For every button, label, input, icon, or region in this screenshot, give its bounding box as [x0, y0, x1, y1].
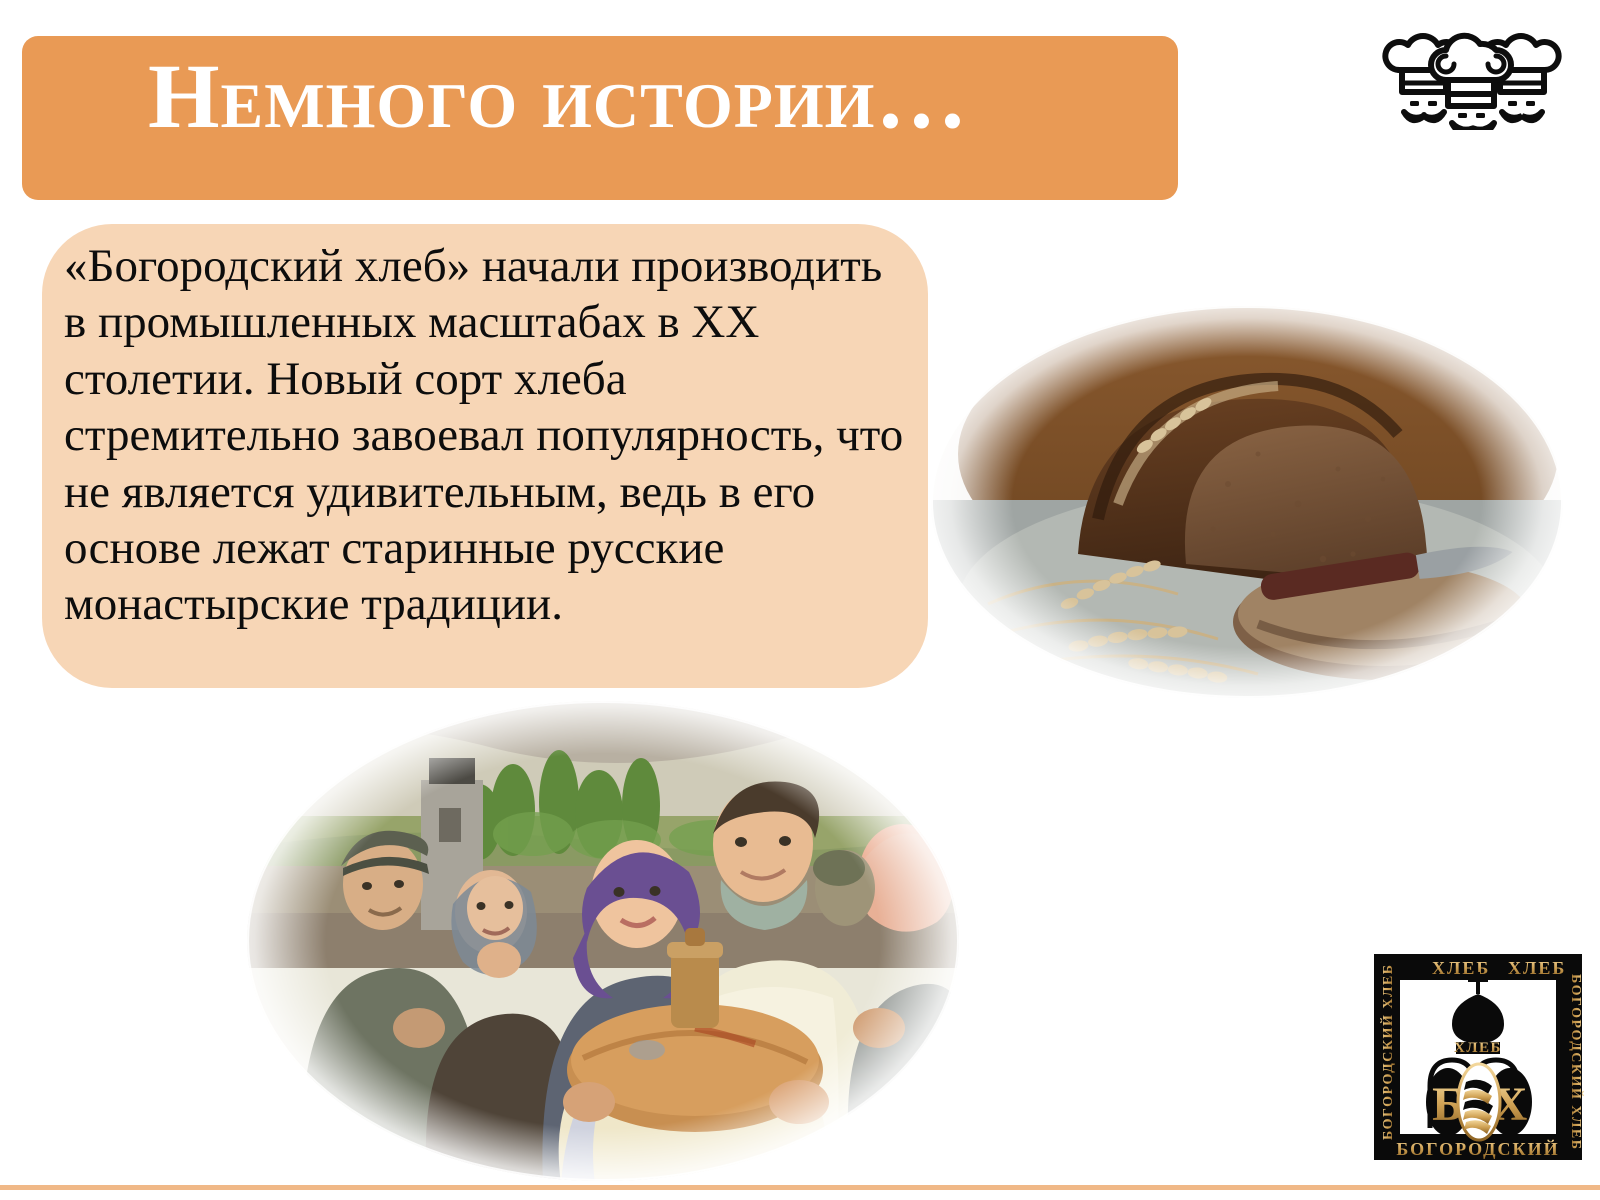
bogorodsky-hleb-logo: ХЛЕБ ХЛЕБ БОГОРОДСКИЙ БОГОРОДСКИЙ ХЛЕБ Б…: [1372, 952, 1584, 1162]
slide-root: Немного истории…: [0, 0, 1600, 1200]
logo-text-left: БОГОРОДСКИЙ ХЛЕБ: [1379, 964, 1396, 1140]
logo-text-top-right: ХЛЕБ: [1508, 958, 1566, 978]
painting-bread-and-salt: [243, 698, 963, 1184]
bottom-accent-rule: [0, 1185, 1600, 1190]
logo-text-right: БОГОРОДСКИЙ ХЛЕБ: [1568, 974, 1584, 1150]
bread-photo: [928, 304, 1566, 700]
logo-text-top-left: ХЛЕБ: [1432, 958, 1490, 978]
body-paragraph: «Богородский хлеб» начали производить в …: [64, 238, 904, 633]
logo-dome-label: ХЛЕБ: [1454, 1040, 1502, 1056]
page-title: Немного истории…: [148, 50, 968, 142]
chef-hats-icon: [1376, 26, 1566, 130]
